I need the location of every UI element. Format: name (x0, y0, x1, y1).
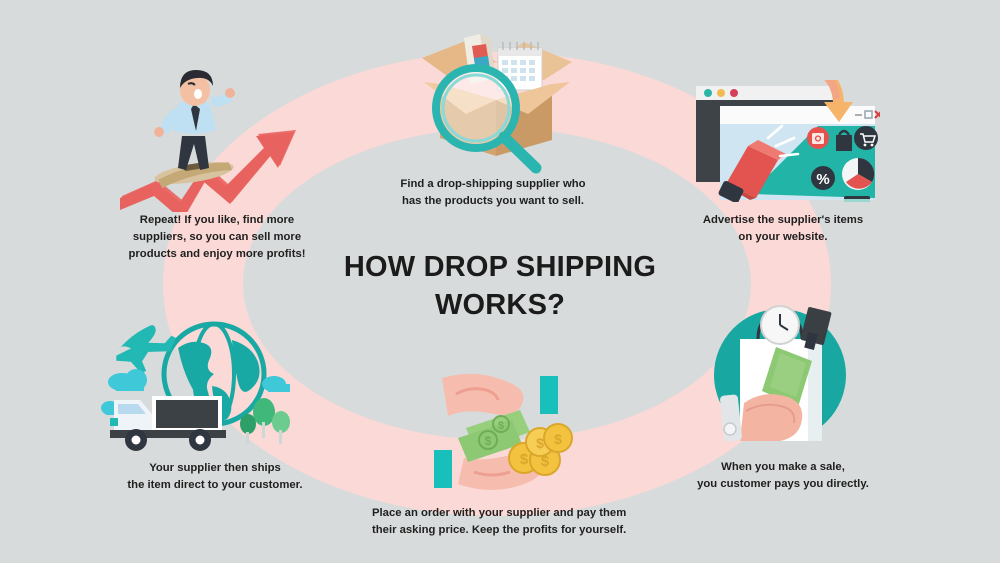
caption-line: Your supplier then ships (120, 460, 310, 477)
bill-dollar-symbol-2: $ (498, 420, 504, 432)
bill-dollar-symbol: $ (485, 434, 492, 448)
svg-text:$: $ (554, 431, 562, 447)
svg-text:$: $ (520, 451, 529, 468)
globe-truck-plane-icon (96, 312, 296, 452)
caption-line: Advertise the supplier's items (688, 212, 878, 229)
caption-make-a-sale: When you make a sale, you customer pays … (688, 459, 878, 493)
tree-group (240, 398, 290, 444)
caption-line: you customer pays you directly. (688, 476, 878, 493)
pie-chart-icon (842, 158, 874, 190)
lock-icon (836, 135, 852, 151)
businessman-rising-arrow-icon (118, 70, 302, 212)
caption-line: their asking price. Keep the profits for… (372, 522, 620, 539)
caption-line: the item direct to your customer. (120, 477, 310, 494)
caption-find-supplier: Find a drop-shipping supplier who has th… (398, 176, 588, 210)
svg-text:$: $ (536, 435, 544, 451)
caption-place-order: Place an order with your supplier and pa… (372, 505, 620, 539)
open-box-magnifier-icon (404, 22, 590, 174)
caption-line: products and enjoy more profits! (122, 246, 312, 263)
shopping-bag-cash-icon (700, 303, 860, 448)
caption-supplier-ships: Your supplier then ships the item direct… (120, 460, 310, 494)
caption-line: suppliers, so you can sell more (122, 229, 312, 246)
red-dot (730, 89, 738, 97)
yellow-dot (717, 89, 725, 97)
teal-dot (704, 89, 712, 97)
caption-advertise-items: Advertise the supplier's items on your w… (688, 212, 878, 246)
title-line-2: WORKS? (300, 286, 700, 324)
caption-repeat: Repeat! If you like, find more suppliers… (122, 212, 312, 263)
title-line-1: HOW DROP SHIPPING (300, 248, 700, 286)
infographic-canvas: % (0, 0, 1000, 563)
percent-symbol: % (816, 171, 829, 188)
caption-line: When you make a sale, (688, 459, 878, 476)
caption-line: Find a drop-shipping supplier who (398, 176, 588, 193)
browser-megaphone-icon: % (690, 80, 880, 202)
page-title: HOW DROP SHIPPING WORKS? (300, 248, 700, 325)
caption-line: Place an order with your supplier and pa… (372, 505, 620, 522)
caption-line: on your website. (688, 229, 878, 246)
caption-line: has the products you want to sell. (398, 193, 588, 210)
hands-money-exchange-icon: $ $ $ $ $ $ (412, 372, 598, 490)
close-icon (875, 111, 880, 118)
caption-line: Repeat! If you like, find more (122, 212, 312, 229)
